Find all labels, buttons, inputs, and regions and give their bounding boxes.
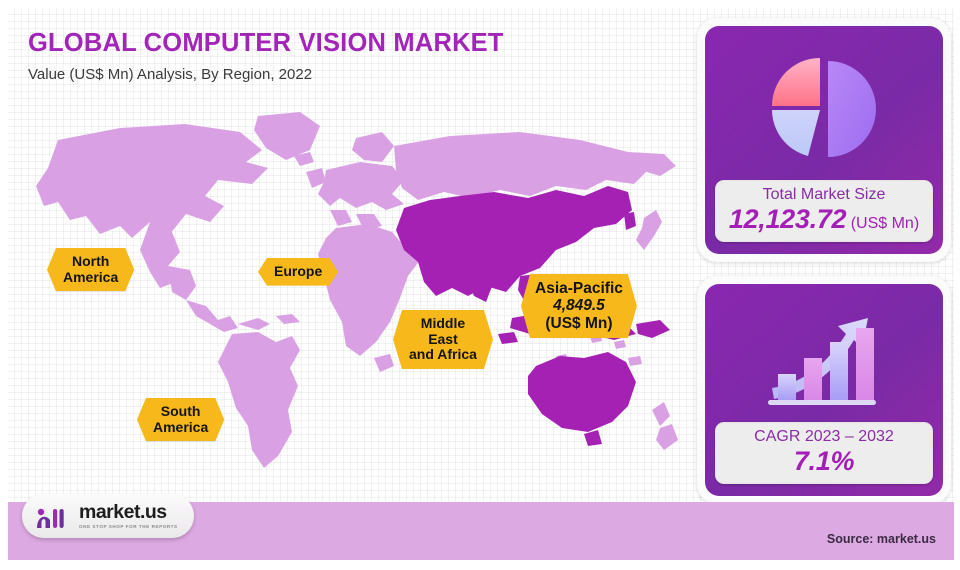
market-us-logo-tagline: ONE STOP SHOP FOR THE REPORTS: [79, 524, 178, 529]
frame-left: [0, 0, 8, 570]
cagr-value-row: 7.1%: [721, 447, 927, 477]
region-label-europe[interactable]: Europe: [258, 258, 338, 286]
page-subtitle: Value (US$ Mn) Analysis, By Region, 2022: [28, 66, 504, 83]
card-cagr: CAGR 2023 – 2032 7.1%: [697, 276, 951, 504]
market-us-logo-name: market.us: [79, 503, 178, 523]
cagr-label: CAGR 2023 – 2032: [721, 428, 927, 446]
frame-top: [0, 0, 960, 8]
region-label-middle-east-and-africa[interactable]: Middle East and Africa: [393, 310, 493, 369]
region-unit-asia-pacific: (US$ Mn): [535, 315, 623, 332]
region-label-south-america[interactable]: South America: [137, 398, 224, 441]
bar-chart-growth-icon-zone: [715, 298, 933, 422]
page-title: GLOBAL COMPUTER VISION MARKET: [28, 30, 504, 57]
region-label-line2: America: [153, 420, 208, 436]
region-label-line1: South: [153, 404, 208, 420]
cagr-value-box: CAGR 2023 – 2032 7.1%: [715, 422, 933, 484]
region-label-line1: North: [63, 254, 118, 270]
region-label-line2: America: [63, 270, 118, 286]
card-total-market-size: Total Market Size 12,123.72 (US$ Mn): [697, 18, 951, 262]
total-market-size-value: 12,123.72: [729, 204, 846, 234]
market-us-logo[interactable]: market.us ONE STOP SHOP FOR THE REPORTS: [22, 494, 194, 538]
frame-right: [954, 0, 960, 570]
pie-chart-icon-zone: [715, 40, 933, 180]
region-label-line1: Middle: [409, 316, 477, 332]
total-market-size-unit: (US$ Mn): [851, 215, 919, 232]
total-market-size-label: Total Market Size: [721, 186, 927, 204]
total-market-size-value-row: 12,123.72 (US$ Mn): [721, 205, 927, 235]
region-label-line1: Asia-Pacific: [535, 280, 623, 297]
header: GLOBAL COMPUTER VISION MARKET Value (US$…: [28, 30, 504, 83]
region-label-line1: Europe: [274, 264, 322, 280]
stat-cards: Total Market Size 12,123.72 (US$ Mn): [697, 18, 951, 504]
infographic-root: GLOBAL COMPUTER VISION MARKET Value (US$…: [0, 0, 960, 570]
source-attribution: Source: market.us: [827, 532, 936, 546]
bar-chart-growth-icon: [760, 304, 888, 416]
region-label-north-america[interactable]: North America: [47, 248, 134, 291]
frame-bottom: [0, 560, 960, 570]
region-label-line3: and Africa: [409, 347, 477, 363]
region-label-line2: East: [409, 332, 477, 348]
market-us-logo-icon: [34, 503, 72, 529]
pie-chart-icon: [765, 51, 883, 169]
total-market-size-value-box: Total Market Size 12,123.72 (US$ Mn): [715, 180, 933, 242]
region-value-asia-pacific: 4,849.5: [535, 297, 623, 314]
cagr-value: 7.1%: [794, 446, 854, 476]
region-label-asia-pacific[interactable]: Asia-Pacific 4,849.5 (US$ Mn): [521, 274, 637, 338]
